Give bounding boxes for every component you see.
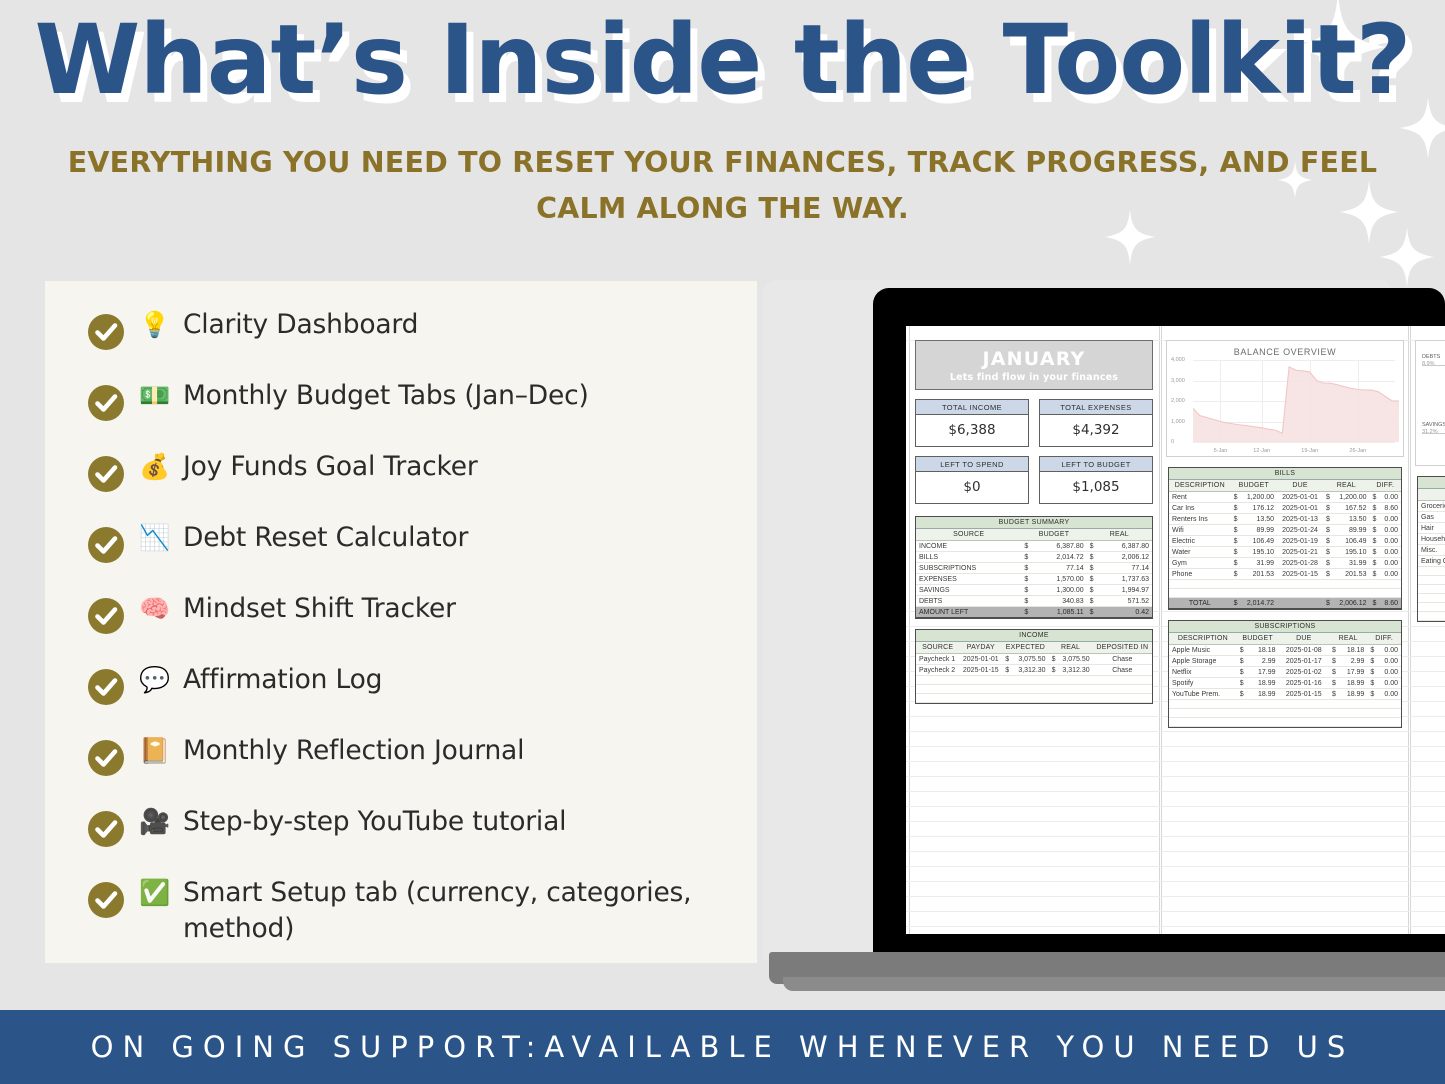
header: What’s Inside the Toolkit? EVERYTHING YO…: [0, 0, 1445, 232]
table-row: Netflix$17.992025-01-02$17.99$0.00: [1169, 667, 1401, 678]
table-row: Household: [1418, 534, 1445, 545]
table-cell: $: [1231, 569, 1241, 580]
column-header: DESCRIPTION: [1169, 480, 1231, 492]
table-cell: $: [1367, 645, 1377, 656]
table-cell: [1247, 709, 1279, 718]
table-row: Apple Storage$2.992025-01-17$2.99$0.00: [1169, 656, 1401, 667]
table-cell: [959, 694, 1002, 703]
kpi-left-to-budget: LEFT TO BUDGET $1,085: [1039, 456, 1153, 504]
pie-label-debts: DEBTS 8.9%: [1422, 354, 1440, 369]
table-cell: $: [1329, 678, 1339, 689]
table-cell: 31.99: [1241, 558, 1278, 569]
table-cell: $: [1087, 541, 1097, 552]
table-cell: 18.99: [1339, 678, 1367, 689]
table-row-total: AMOUNT LEFT$1,085.11$0.42: [916, 607, 1152, 618]
table-cell: 2025-01-16: [1279, 678, 1329, 689]
table-cell: $: [1049, 654, 1059, 665]
table-cell: 2025-01-15: [1277, 569, 1323, 580]
table-cell: [1277, 598, 1323, 609]
pie-label-name: DEBTS: [1422, 354, 1440, 361]
table-row-empty: [1418, 603, 1445, 612]
table-cell: 2,006.12: [1333, 598, 1370, 609]
table-cell: 18.18: [1339, 645, 1367, 656]
table-cell: [1418, 567, 1445, 576]
table-row: Paycheck 12025-01-01$3,075.50$3,075.50Ch…: [916, 654, 1152, 665]
table-cell: [1237, 709, 1247, 718]
table-cell: $: [1323, 569, 1333, 580]
checklist-item-label: Smart Setup tab (currency, categories, m…: [183, 875, 739, 947]
table-cell: [1418, 612, 1445, 621]
table-cell: 2.99: [1339, 656, 1367, 667]
balance-overview-chart: BALANCE OVERVIEW 01,0002,0003,0004,0005-…: [1166, 340, 1404, 457]
table-cell: BILLS: [916, 552, 1021, 563]
chart-x-tick-label: 5-Jan: [1214, 448, 1228, 454]
checklist-item-label: Monthly Reflection Journal: [183, 733, 524, 769]
table-cell: 1,570.00: [1031, 574, 1086, 585]
table-cell: [1169, 580, 1231, 589]
checklist-item-label: Step-by-step YouTube tutorial: [183, 804, 566, 840]
check-circle-icon: [87, 597, 125, 635]
table-cell: 2025-01-19: [1277, 536, 1323, 547]
table-row: YouTube Prem.$18.992025-01-15$18.99$0.00: [1169, 689, 1401, 700]
table-cell: $: [1369, 569, 1379, 580]
column-header: BUDGET: [1237, 633, 1279, 645]
table-cell: 1,994.97: [1097, 585, 1152, 596]
table-cell: 201.53: [1241, 569, 1278, 580]
table-cell: $: [1021, 585, 1031, 596]
table-cell: 0.00: [1379, 547, 1401, 558]
table-cell: [1418, 585, 1445, 594]
table-row: EXPENSES$1,570.00$1,737.63: [916, 574, 1152, 585]
table-cell: Paycheck 1: [916, 654, 959, 665]
table-cell: 2025-01-21: [1277, 547, 1323, 558]
table-cell: Eating Out: [1418, 556, 1445, 567]
table-cell: $: [1367, 656, 1377, 667]
table-cell: 1,200.00: [1241, 492, 1278, 503]
subscriptions-table[interactable]: SUBSCRIPTIONS DESCRIPTIONBUDGETDUEREALDI…: [1168, 620, 1402, 728]
table-cell: 0.00: [1377, 656, 1401, 667]
table-cell: 0.00: [1377, 667, 1401, 678]
table-cell: AMOUNT LEFT: [916, 607, 1021, 618]
table-cell: 2025-01-28: [1277, 558, 1323, 569]
table-row-empty: [1418, 612, 1445, 621]
column-header: REAL: [1323, 480, 1369, 492]
table-cell: [1012, 694, 1048, 703]
pie-label-pct: 31.2%: [1422, 429, 1438, 435]
table-cell: 2.99: [1247, 656, 1279, 667]
month-tagline: Lets find flow in your finances: [950, 372, 1118, 383]
chart-series-balance: [1193, 360, 1399, 443]
table-cell: [1367, 718, 1377, 727]
table-row: Gas: [1418, 512, 1445, 523]
table-title: INCOME: [916, 630, 1152, 642]
table-row: SUBSCRIPTIONS$77.14$77.14: [916, 563, 1152, 574]
chart-y-tick-label: 0: [1171, 439, 1174, 445]
table-cell: $: [1087, 552, 1097, 563]
table-row: Phone$201.532025-01-15$201.53$0.00: [1169, 569, 1401, 580]
table-cell: $: [1002, 654, 1012, 665]
table-cell: 89.99: [1241, 525, 1278, 536]
table-row-empty: [916, 694, 1152, 703]
table-cell: $: [1323, 525, 1333, 536]
table-cell: 1,737.63: [1097, 574, 1152, 585]
column-header: DIFF.: [1369, 480, 1401, 492]
table-cell: 0.00: [1379, 536, 1401, 547]
kpi-value: $1,085: [1040, 472, 1152, 503]
page-subtitle: EVERYTHING YOU NEED TO RESET YOUR FINANC…: [58, 140, 1388, 232]
table-cell: [1058, 685, 1092, 694]
table-cell: 2,014.72: [1031, 552, 1086, 563]
table-cell: $: [1329, 689, 1339, 700]
table-row-empty: [1418, 594, 1445, 603]
check-circle-icon: [87, 668, 125, 706]
table-cell: 340.83: [1031, 596, 1086, 607]
table-cell: $: [1231, 503, 1241, 514]
table-cell: $: [1087, 563, 1097, 574]
table-cell: [916, 694, 959, 703]
table-cell: $: [1087, 574, 1097, 585]
table-cell: [1279, 718, 1329, 727]
table-cell: Rent: [1169, 492, 1231, 503]
spending-pie-chart: SP DEBTS 8.9% SAVINGS 31.2%: [1415, 340, 1445, 466]
table-row: Hair: [1418, 523, 1445, 534]
table-cell: [1231, 589, 1241, 598]
table-row-empty: [916, 676, 1152, 685]
table-cell: Groceries: [1418, 501, 1445, 512]
table-cell: 13.50: [1333, 514, 1370, 525]
table-title: SUBSCRIPTIONS: [1169, 621, 1401, 633]
table-cell: 18.18: [1247, 645, 1279, 656]
table-cell: 3,075.50: [1058, 654, 1092, 665]
table-row-empty: [1418, 585, 1445, 594]
table-cell: $: [1369, 558, 1379, 569]
bottom-banner-text: ON GOING SUPPORT:AVAILABLE WHENEVER YOU …: [91, 1030, 1355, 1064]
checklist-item-label: Clarity Dashboard: [183, 307, 418, 343]
table-cell: 6,387.80: [1097, 541, 1152, 552]
table-cell: [1169, 700, 1237, 709]
table-row: Gym$31.992025-01-28$31.99$0.00: [1169, 558, 1401, 569]
table-cell: [1049, 676, 1059, 685]
table-cell: $: [1231, 598, 1241, 609]
table-cell: $: [1231, 547, 1241, 558]
table-cell: 2025-01-01: [959, 654, 1002, 665]
table-cell: Phone: [1169, 569, 1231, 580]
table-cell: $: [1369, 547, 1379, 558]
table-cell: 17.99: [1339, 667, 1367, 678]
table-cell: $: [1369, 536, 1379, 547]
checklist-item-label: Mindset Shift Tracker: [183, 591, 456, 627]
table-cell: [1002, 676, 1012, 685]
table-cell: $: [1323, 503, 1333, 514]
table-cell: $: [1002, 665, 1012, 676]
table-cell: $: [1369, 492, 1379, 503]
table-cell: 3,312.30: [1058, 665, 1092, 676]
table-cell: SUBSCRIPTIONS: [916, 563, 1021, 574]
table-cell: 167.52: [1333, 503, 1370, 514]
table-cell: 18.99: [1247, 689, 1279, 700]
check-circle-icon: [87, 739, 125, 777]
table-row-empty: [1169, 718, 1401, 727]
column-header: DUE: [1277, 480, 1323, 492]
lightbulb-icon: 💡: [139, 307, 169, 343]
chart-y-tick-label: 2,000: [1171, 398, 1185, 404]
check-box-icon: ✅: [139, 875, 169, 911]
table-cell: DEBTS: [916, 596, 1021, 607]
check-circle-icon: [87, 455, 125, 493]
table-cell: 2025-01-01: [1277, 503, 1323, 514]
speech-icon: 💬: [139, 662, 169, 698]
table-cell: 2,014.72: [1241, 598, 1278, 609]
table-cell: [1339, 700, 1367, 709]
table-cell: 571.52: [1097, 596, 1152, 607]
money-icon: 💵: [139, 378, 169, 414]
table-cell: Apple Storage: [1169, 656, 1237, 667]
table-cell: [1377, 718, 1401, 727]
table-cell: $: [1231, 514, 1241, 525]
table-cell: 89.99: [1333, 525, 1370, 536]
table-cell: $: [1231, 536, 1241, 547]
table-cell: 8.60: [1379, 503, 1401, 514]
chart-y-tick-label: 1,000: [1171, 419, 1185, 425]
table-row: INCOME$6,387.80$6,387.80: [916, 541, 1152, 552]
table-cell: [1279, 709, 1329, 718]
kpi-label: TOTAL EXPENSES: [1040, 400, 1152, 415]
table-cell: 2025-01-15: [1279, 689, 1329, 700]
table-cell: $: [1323, 558, 1333, 569]
table-cell: 3,075.50: [1012, 654, 1048, 665]
table-cell: [1049, 694, 1059, 703]
chart-x-tick-label: 12-Jan: [1253, 448, 1270, 454]
page-title: What’s Inside the Toolkit?: [0, 0, 1445, 108]
table-row: BILLS$2,014.72$2,006.12: [916, 552, 1152, 563]
bottom-banner: ON GOING SUPPORT:AVAILABLE WHENEVER YOU …: [0, 1010, 1445, 1084]
month-name: JANUARY: [983, 348, 1086, 370]
table-cell: $: [1323, 598, 1333, 609]
table-row: DEBTS$340.83$571.52: [916, 596, 1152, 607]
table-cell: 106.49: [1333, 536, 1370, 547]
table-cell: [1333, 589, 1370, 598]
table-cell: $: [1087, 607, 1097, 618]
bills-table[interactable]: BILLS DESCRIPTIONBUDGETDUEREALDIFF. Rent…: [1168, 467, 1402, 610]
chart-down-icon: 📉: [139, 520, 169, 556]
table-cell: Gym: [1169, 558, 1231, 569]
table-cell: SAVINGS: [916, 585, 1021, 596]
table-cell: [1329, 718, 1339, 727]
table-cell: Electric: [1169, 536, 1231, 547]
table-cell: 0.00: [1377, 645, 1401, 656]
checklist-item-label: Debt Reset Calculator: [183, 520, 468, 556]
table-cell: $: [1369, 598, 1379, 609]
check-circle-icon: [87, 313, 125, 351]
table-cell: 2025-01-02: [1279, 667, 1329, 678]
table-cell: [1247, 700, 1279, 709]
checklist-item: 🧠Mindset Shift Tracker: [63, 591, 739, 662]
table-cell: $: [1323, 536, 1333, 547]
table-cell: $: [1231, 558, 1241, 569]
table-cell: 1,200.00: [1333, 492, 1370, 503]
table-cell: 2025-01-17: [1279, 656, 1329, 667]
table-cell: [1237, 718, 1247, 727]
chart-y-tick-label: 3,000: [1171, 378, 1185, 384]
table-cell: [1241, 589, 1278, 598]
table-cell: YouTube Prem.: [1169, 689, 1237, 700]
table-cell: 2025-01-13: [1277, 514, 1323, 525]
column-header: DUE: [1279, 633, 1329, 645]
kpi-value: $4,392: [1040, 415, 1152, 446]
chart-title: BALANCE OVERVIEW: [1171, 347, 1399, 357]
checklist-item: ✅Smart Setup tab (currency, categories, …: [63, 875, 739, 947]
table-cell: 0.00: [1377, 689, 1401, 700]
table-row: Water$195.102025-01-21$195.10$0.00: [1169, 547, 1401, 558]
table-cell: [1333, 580, 1370, 589]
table-title: BUDGET SUMMARY: [916, 517, 1152, 529]
table-cell: [1323, 580, 1333, 589]
table-cell: $: [1369, 514, 1379, 525]
movie-camera-icon: 🎥: [139, 804, 169, 840]
table-cell: $: [1021, 552, 1031, 563]
table-cell: [1377, 709, 1401, 718]
table-row-empty: [916, 685, 1152, 694]
table-cell: [1169, 709, 1237, 718]
column-header: SOURCE: [916, 642, 959, 654]
budget-spreadsheet[interactable]: JANUARY Lets find flow in your finances …: [906, 326, 1445, 934]
notebook-icon: 📔: [139, 733, 169, 769]
column-header: EXPECTED: [1002, 642, 1048, 654]
table-row: Renters Ins$13.502025-01-13$13.50$0.00: [1169, 514, 1401, 525]
table-cell: [1058, 694, 1092, 703]
table-cell: [1329, 709, 1339, 718]
table-row: Electric$106.492025-01-19$106.49$0.00: [1169, 536, 1401, 547]
table-cell: [1237, 700, 1247, 709]
table-cell: EXPENSES: [916, 574, 1021, 585]
table-cell: $: [1231, 492, 1241, 503]
table-cell: 0.00: [1379, 492, 1401, 503]
table-cell: [1339, 718, 1367, 727]
table-cell: 106.49: [1241, 536, 1278, 547]
column-header: SOURCE: [916, 529, 1021, 541]
table-cell: [1012, 685, 1048, 694]
column-header: REAL: [1087, 529, 1152, 541]
sheet-column-right: SP DEBTS 8.9% SAVINGS 31.2% EXPENSES: [1411, 326, 1445, 622]
table-cell: Apple Music: [1169, 645, 1237, 656]
table-cell: Wifi: [1169, 525, 1231, 536]
table-cell: 18.99: [1247, 678, 1279, 689]
table-cell: Netflix: [1169, 667, 1237, 678]
table-cell: [959, 676, 1002, 685]
table-cell: $: [1021, 607, 1031, 618]
table-cell: [916, 676, 959, 685]
table-cell: $: [1367, 689, 1377, 700]
chart-x-tick-label: 19-Jan: [1301, 448, 1318, 454]
table-cell: $: [1237, 656, 1247, 667]
checklist-item: 📉Debt Reset Calculator: [63, 520, 739, 591]
table-cell: $: [1369, 503, 1379, 514]
table-row-empty: [1169, 589, 1401, 598]
table-row-empty: [1418, 576, 1445, 585]
table-cell: $: [1021, 596, 1031, 607]
table-cell: 2025-01-15: [959, 665, 1002, 676]
column-header: DESCRIPTION: [1169, 633, 1237, 645]
table-cell: [1277, 589, 1323, 598]
column-header: BUDGET: [1231, 480, 1277, 492]
table-cell: $: [1323, 514, 1333, 525]
table-row-total: TOTAL$2,014.72$2,006.12$8.60: [1169, 598, 1401, 609]
table-cell: [1369, 589, 1379, 598]
table-cell: [1279, 700, 1329, 709]
table-cell: $: [1021, 574, 1031, 585]
table-cell: 77.14: [1097, 563, 1152, 574]
checklist-item: 🎥Step-by-step YouTube tutorial: [63, 804, 739, 875]
expenses-table[interactable]: EXPENSES DESCRIPTION GroceriesGasHairHou…: [1417, 476, 1445, 622]
kpi-label: TOTAL INCOME: [916, 400, 1028, 415]
table-cell: [1329, 700, 1339, 709]
table-cell: [1049, 685, 1059, 694]
kpi-label: LEFT TO BUDGET: [1040, 457, 1152, 472]
table-cell: Chase: [1093, 665, 1152, 676]
table-row: Misc.: [1418, 545, 1445, 556]
table-cell: $: [1021, 541, 1031, 552]
table-cell: 0.00: [1379, 558, 1401, 569]
table-cell: [1093, 694, 1152, 703]
table-cell: Household: [1418, 534, 1445, 545]
table-cell: $: [1329, 656, 1339, 667]
table-cell: 13.50: [1241, 514, 1278, 525]
chart-x-tick-label: 26-Jan: [1349, 448, 1366, 454]
table-cell: Water: [1169, 547, 1231, 558]
laptop-base-foot: [783, 977, 1445, 991]
table-row-empty: [1169, 709, 1401, 718]
table-cell: $: [1087, 585, 1097, 596]
table-cell: 1,085.11: [1031, 607, 1086, 618]
table-cell: 17.99: [1247, 667, 1279, 678]
table-cell: [1379, 580, 1401, 589]
table-cell: 31.99: [1333, 558, 1370, 569]
table-cell: 2,006.12: [1097, 552, 1152, 563]
kpi-value: $0: [916, 472, 1028, 503]
column-header: REAL: [1049, 642, 1093, 654]
kpi-row-2: LEFT TO SPEND $0 LEFT TO BUDGET $1,085: [915, 456, 1153, 504]
table-cell: [1169, 718, 1237, 727]
income-table[interactable]: INCOME SOURCEPAYDAYEXPECTEDREALDEPOSITED…: [915, 629, 1153, 704]
table-row: Spotify$18.992025-01-16$18.99$0.00: [1169, 678, 1401, 689]
table-cell: 0.00: [1379, 514, 1401, 525]
table-cell: 1,300.00: [1031, 585, 1086, 596]
budget-summary-table[interactable]: BUDGET SUMMARY SOURCEBUDGETREAL INCOME$6…: [915, 516, 1153, 619]
table-cell: [1369, 580, 1379, 589]
table-cell: [1241, 580, 1278, 589]
table-cell: [1277, 580, 1323, 589]
checklist-item: 💵Monthly Budget Tabs (Jan–Dec): [63, 378, 739, 449]
checklist-item: 📔Monthly Reflection Journal: [63, 733, 739, 804]
laptop-screen: JANUARY Lets find flow in your finances …: [906, 326, 1445, 934]
sparkle-icon-6: [1380, 225, 1434, 289]
kpi-row-1: TOTAL INCOME $6,388 TOTAL EXPENSES $4,39…: [915, 399, 1153, 447]
checklist-item-label: Monthly Budget Tabs (Jan–Dec): [183, 378, 589, 414]
table-cell: Hair: [1418, 523, 1445, 534]
table-cell: 195.10: [1241, 547, 1278, 558]
table-cell: 0.42: [1097, 607, 1152, 618]
table-cell: $: [1237, 678, 1247, 689]
table-row-empty: [1418, 567, 1445, 576]
table-cell: [1323, 589, 1333, 598]
table-cell: [1418, 603, 1445, 612]
table-cell: $: [1237, 645, 1247, 656]
table-cell: $: [1329, 645, 1339, 656]
table-cell: [1367, 709, 1377, 718]
table-cell: INCOME: [916, 541, 1021, 552]
table-cell: $: [1367, 678, 1377, 689]
table-cell: $: [1087, 596, 1097, 607]
